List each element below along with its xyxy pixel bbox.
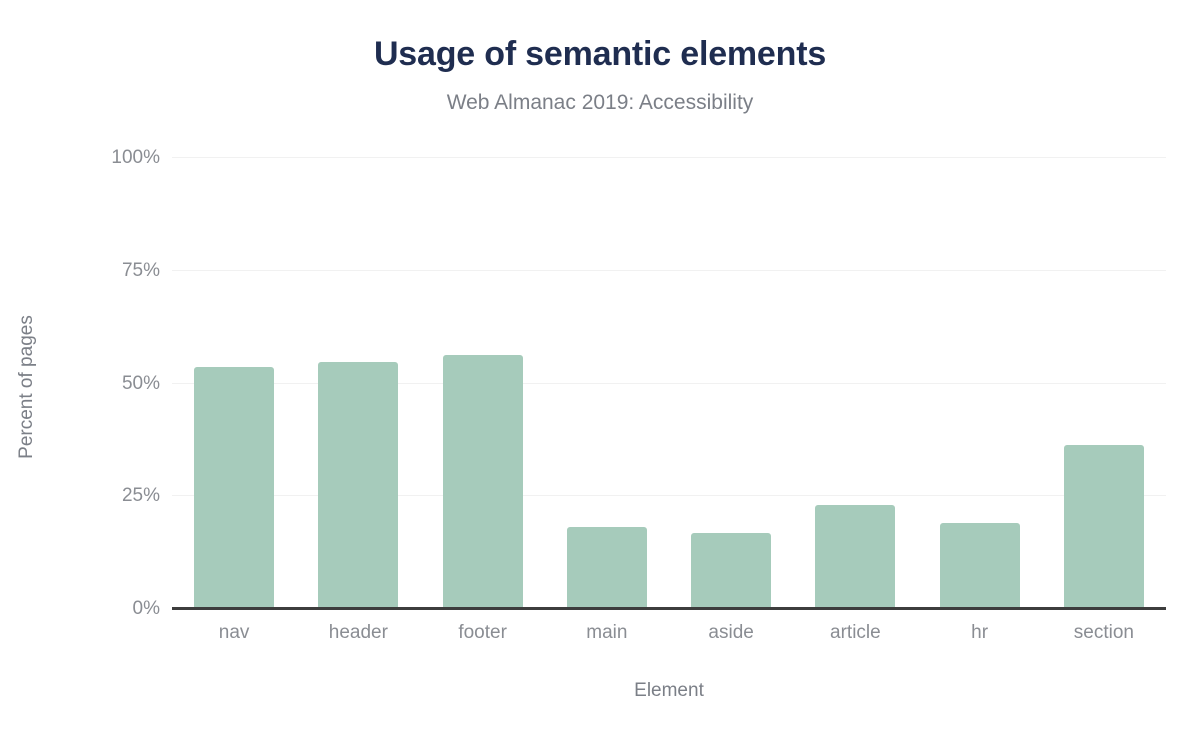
y-axis-tick-label: 50% [60,373,160,395]
x-axis-tick-label: nav [172,620,296,646]
y-axis-tick-label: 25% [60,485,160,507]
bar[interactable] [940,523,1020,608]
bar[interactable] [194,367,274,608]
x-axis-tick-label: hr [918,620,1042,646]
chart-title: Usage of semantic elements [0,32,1200,76]
chart-container: Usage of semantic elements Web Almanac 2… [0,0,1200,742]
bar[interactable] [1064,445,1144,608]
x-axis-tick-label: aside [669,620,793,646]
y-axis-tick-label: 100% [60,147,160,169]
bar[interactable] [815,505,895,608]
x-axis-line [172,607,1166,610]
x-axis-tick-label: header [296,620,420,646]
x-axis-tick-label: main [545,620,669,646]
x-axis-tick-label: article [793,620,917,646]
bar[interactable] [691,533,771,608]
bar-series [172,157,1166,608]
y-axis-tick-label: 0% [60,598,160,620]
y-axis-title: Percent of pages [14,297,40,477]
bar[interactable] [567,527,647,608]
y-axis-tick-label: 75% [60,260,160,282]
x-axis-tick-label: footer [421,620,545,646]
bar[interactable] [318,362,398,608]
x-axis-tick-label: section [1042,620,1166,646]
x-axis-title: Element [172,678,1166,704]
chart-subtitle: Web Almanac 2019: Accessibility [0,88,1200,118]
bar[interactable] [443,355,523,608]
